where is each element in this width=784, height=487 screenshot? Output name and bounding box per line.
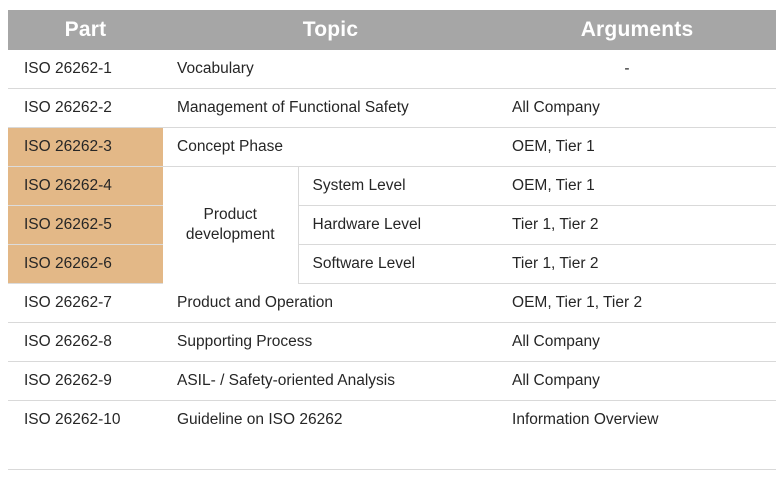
cell-topic: Product and Operation <box>163 284 498 323</box>
table-row: ISO 26262-3 Concept Phase OEM, Tier 1 <box>8 128 776 167</box>
table-row: ISO 26262-7 Product and Operation OEM, T… <box>8 284 776 323</box>
iso-26262-table-container: Part Topic Arguments ISO 26262-1 Vocabul… <box>8 10 776 470</box>
cell-part-highlighted: ISO 26262-3 <box>8 128 163 167</box>
table-row: ISO 26262-9 ASIL- / Safety-oriented Anal… <box>8 362 776 401</box>
cell-arguments: All Company <box>498 323 776 362</box>
cell-arguments: All Company <box>498 362 776 401</box>
cell-topic: ASIL- / Safety-oriented Analysis <box>163 362 498 401</box>
cell-topic: Concept Phase <box>163 128 498 167</box>
cell-topic: Management of Functional Safety <box>163 89 498 128</box>
page-canvas: Part Topic Arguments ISO 26262-1 Vocabul… <box>0 0 784 487</box>
table-body: ISO 26262-1 Vocabulary - ISO 26262-2 Man… <box>8 50 776 439</box>
cell-arguments: Tier 1, Tier 2 <box>498 245 776 284</box>
column-header-arguments[interactable]: Arguments <box>498 10 776 50</box>
merged-topic-line-2: development <box>186 226 275 243</box>
table-row: ISO 26262-5 Hardware Level Tier 1, Tier … <box>8 206 776 245</box>
cell-arguments: - <box>498 50 776 89</box>
cell-part: ISO 26262-2 <box>8 89 163 128</box>
cell-part: ISO 26262-8 <box>8 323 163 362</box>
cell-part: ISO 26262-7 <box>8 284 163 323</box>
cell-sub-topic: Software Level <box>298 245 498 284</box>
cell-topic: Guideline on ISO 26262 <box>163 401 498 440</box>
cell-arguments: OEM, Tier 1 <box>498 128 776 167</box>
cell-part-highlighted: ISO 26262-5 <box>8 206 163 245</box>
cell-sub-topic: System Level <box>298 167 498 206</box>
cell-arguments: OEM, Tier 1 <box>498 167 776 206</box>
cell-arguments: All Company <box>498 89 776 128</box>
cell-part: ISO 26262-10 <box>8 401 163 440</box>
table-row: ISO 26262-2 Management of Functional Saf… <box>8 89 776 128</box>
table-row: ISO 26262-10 Guideline on ISO 26262 Info… <box>8 401 776 440</box>
cell-arguments: Tier 1, Tier 2 <box>498 206 776 245</box>
cell-sub-topic: Hardware Level <box>298 206 498 245</box>
column-header-part[interactable]: Part <box>8 10 163 50</box>
merged-topic-line-1: Product <box>204 206 257 223</box>
table-row: ISO 26262-8 Supporting Process All Compa… <box>8 323 776 362</box>
cell-arguments: Information Overview <box>498 401 776 440</box>
cell-topic: Vocabulary <box>163 50 498 89</box>
cell-arguments: OEM, Tier 1, Tier 2 <box>498 284 776 323</box>
table-header: Part Topic Arguments <box>8 10 776 50</box>
cell-topic: Supporting Process <box>163 323 498 362</box>
cell-topic-merged-product-development: Product development <box>163 167 298 284</box>
column-header-topic[interactable]: Topic <box>163 10 498 50</box>
iso-26262-table: Part Topic Arguments ISO 26262-1 Vocabul… <box>8 10 776 439</box>
cell-part-highlighted: ISO 26262-6 <box>8 245 163 284</box>
table-row: ISO 26262-6 Software Level Tier 1, Tier … <box>8 245 776 284</box>
table-bottom-divider <box>8 469 776 470</box>
cell-part: ISO 26262-9 <box>8 362 163 401</box>
cell-part-highlighted: ISO 26262-4 <box>8 167 163 206</box>
header-row: Part Topic Arguments <box>8 10 776 50</box>
table-row: ISO 26262-4 Product development System L… <box>8 167 776 206</box>
table-row: ISO 26262-1 Vocabulary - <box>8 50 776 89</box>
cell-part: ISO 26262-1 <box>8 50 163 89</box>
